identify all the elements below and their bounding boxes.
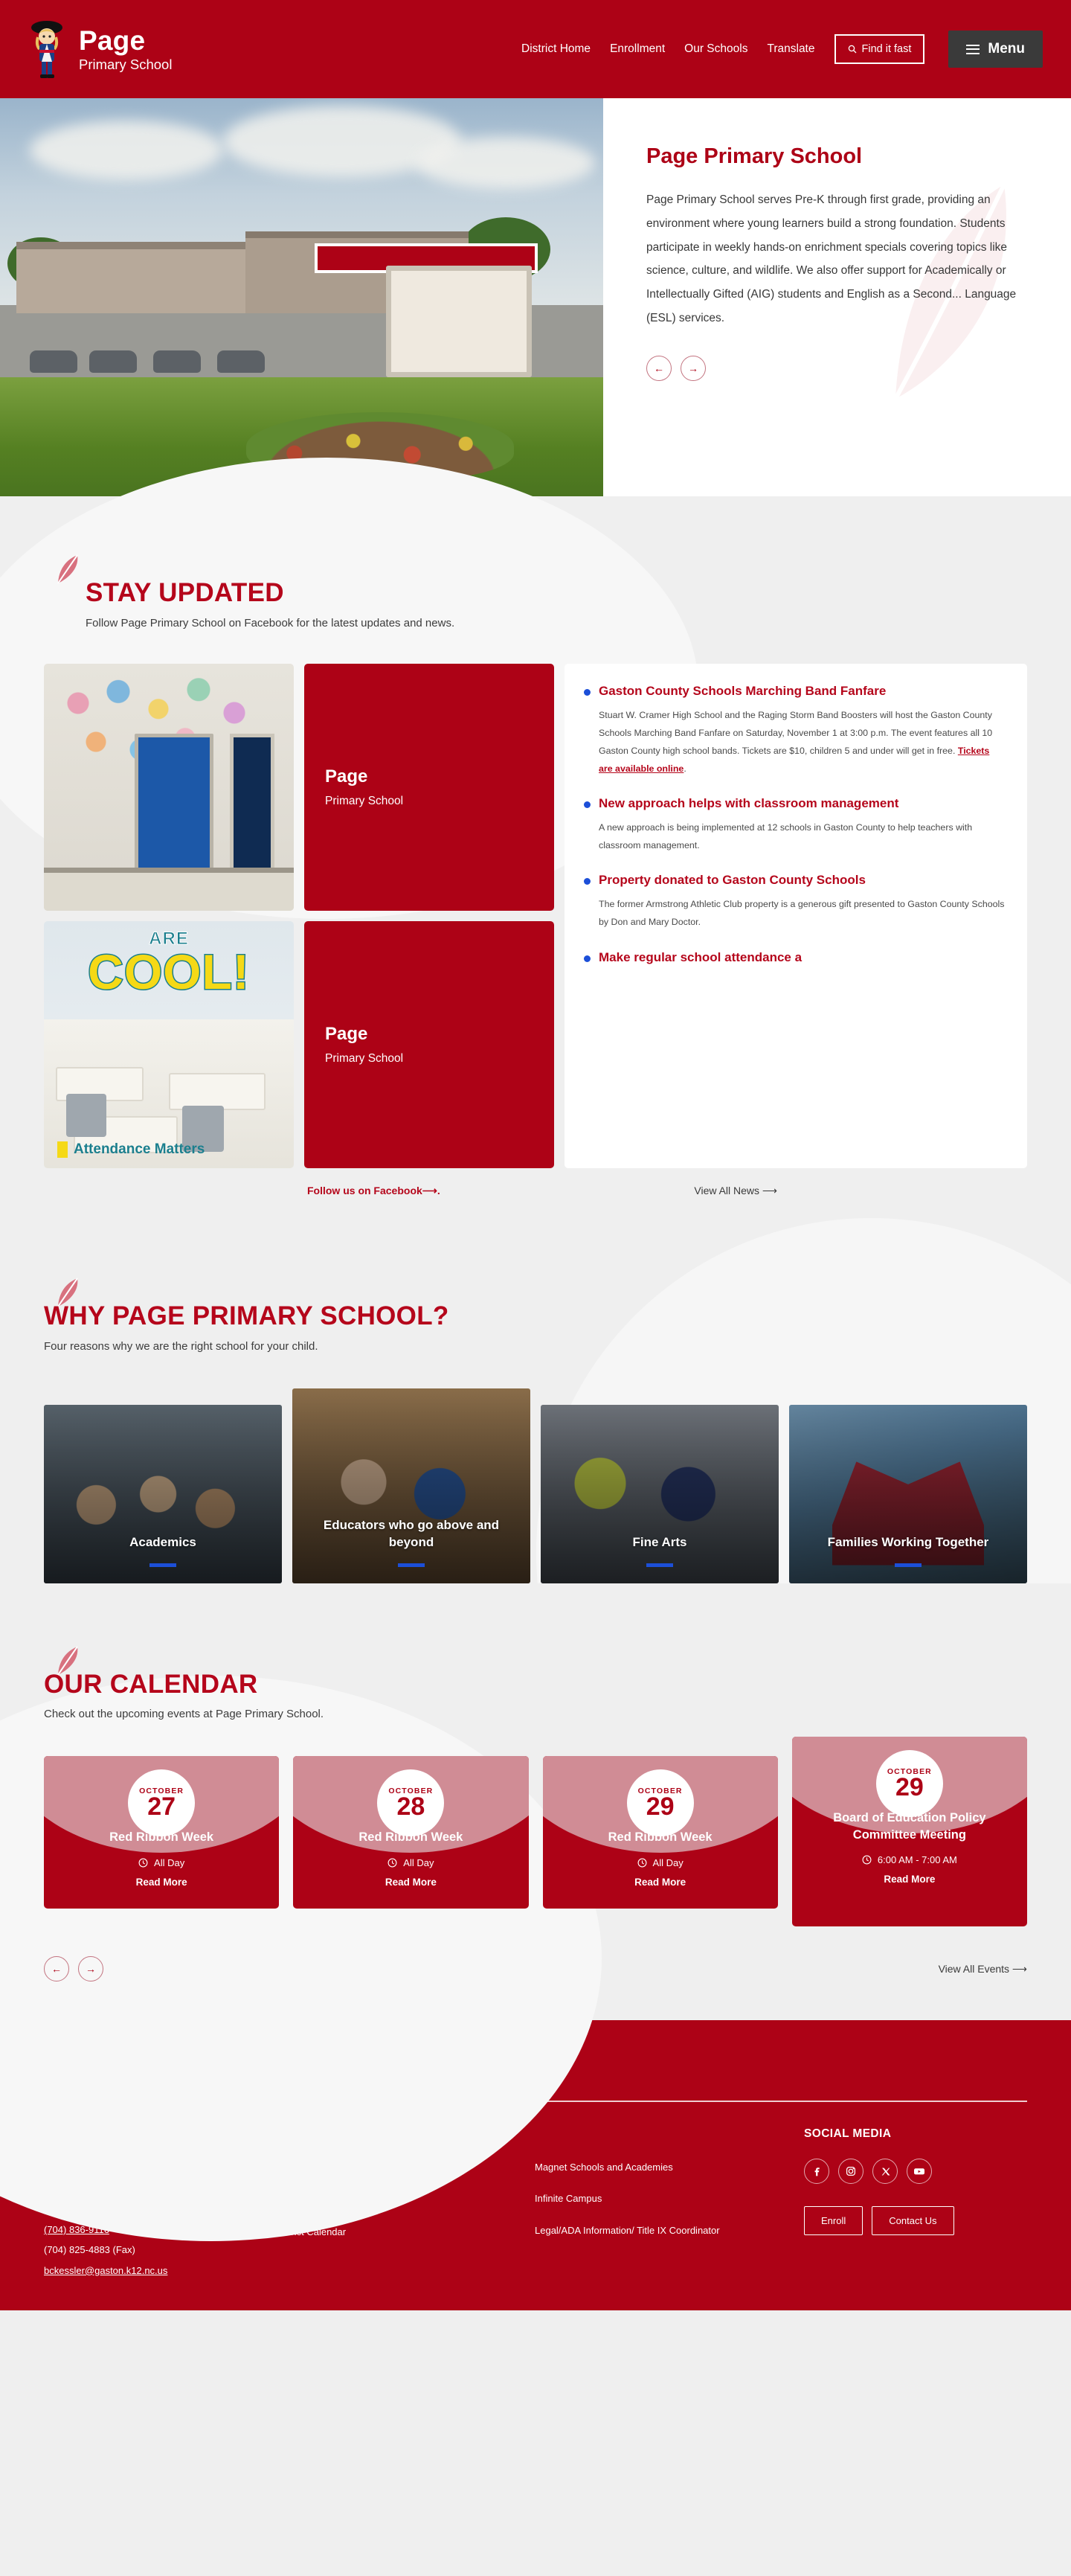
news-item[interactable]: New approach helps with classroom manage…: [584, 795, 1005, 854]
hero-school-photo: [0, 98, 603, 496]
event-read-more[interactable]: Read More: [136, 1877, 187, 1888]
stay-updated-footer-links: Follow us on Facebook⟶. View All News ⟶: [44, 1185, 1027, 1197]
post2-cool-text: COOL!: [44, 943, 294, 1000]
facebook-feed-grid: ARE COOL! Attendance Matters Page Primar…: [44, 664, 1027, 1168]
yellow-square-icon: [57, 1141, 68, 1158]
bullet-icon: [584, 689, 591, 696]
event-read-more[interactable]: Read More: [884, 1874, 935, 1885]
contact-us-button[interactable]: Contact Us: [872, 2206, 953, 2235]
menu-button[interactable]: Menu: [948, 31, 1043, 68]
hero-section: Page Primary School Page Primary School …: [0, 98, 1071, 496]
footer-link-infinite-campus[interactable]: Infinite Campus: [535, 2188, 797, 2208]
events-grid: OCTOBER 27 Red Ribbon Week All Day Read …: [44, 1756, 1027, 1926]
facebook-post-image-1[interactable]: [44, 664, 294, 911]
event-title: Board of Education Policy Committee Meet…: [808, 1810, 1011, 1843]
footer-link-magnet-schools[interactable]: Magnet Schools and Academies: [535, 2157, 797, 2177]
news-title[interactable]: Property donated to Gaston County School…: [599, 872, 1005, 889]
facebook-post-image-2[interactable]: ARE COOL! Attendance Matters: [44, 921, 294, 1168]
follow-facebook-link[interactable]: Follow us on Facebook⟶.: [307, 1185, 440, 1197]
event-date-badge: OCTOBER 28: [377, 1769, 444, 1836]
news-body: A new approach is being implemented at 1…: [599, 818, 1005, 854]
brand-subtitle: Primary School: [79, 58, 172, 72]
menu-label: Menu: [988, 41, 1025, 57]
nav-translate[interactable]: Translate: [767, 42, 814, 56]
top-nav: District Home Enrollment Our Schools Tra…: [521, 31, 1043, 68]
event-day: 27: [147, 1794, 176, 1819]
hero-content: Page Primary School Page Primary School …: [0, 98, 1071, 496]
footer-email-link[interactable]: bckessler@gaston.k12.nc.us: [44, 2261, 267, 2281]
brand-logo[interactable]: Page Primary School: [25, 17, 172, 81]
hero-title: Page Primary School: [646, 144, 1025, 169]
view-all-news-link[interactable]: View All News ⟶: [694, 1185, 777, 1197]
clock-icon: [637, 1858, 647, 1868]
footer-social-heading: SOCIAL MEDIA: [804, 2127, 1027, 2141]
facebook-brand-card-2[interactable]: Page Primary School: [304, 921, 554, 1168]
hero-prev-button[interactable]: ←: [646, 356, 672, 381]
nav-our-schools[interactable]: Our Schools: [684, 42, 747, 56]
news-item[interactable]: Make regular school attendance a: [584, 949, 1005, 967]
event-title: Red Ribbon Week: [559, 1829, 762, 1845]
why-card-label: Fine Arts: [553, 1534, 767, 1551]
nav-district-home[interactable]: District Home: [521, 42, 591, 56]
footer-action-buttons: Enroll Contact Us: [804, 2206, 1027, 2235]
brand-title: Page: [79, 27, 172, 54]
calendar-header: OUR CALENDAR Check out the upcoming even…: [44, 1646, 1027, 1721]
facebook-brand-card-1[interactable]: Page Primary School: [304, 664, 554, 911]
facebook-icon[interactable]: [804, 2159, 829, 2184]
news-list-card: Gaston County Schools Marching Band Fanf…: [565, 664, 1027, 1168]
calendar-carousel-controls: ← →: [44, 1956, 103, 1981]
view-all-events-link[interactable]: View All Events ⟶: [939, 1963, 1027, 1976]
why-card-label: Academics: [56, 1534, 270, 1551]
instagram-icon[interactable]: [838, 2159, 863, 2184]
why-card-educators[interactable]: Educators who go above and beyond: [292, 1388, 530, 1583]
event-date-badge: OCTOBER 27: [128, 1769, 195, 1836]
news-title[interactable]: New approach helps with classroom manage…: [599, 795, 1005, 813]
why-card-underline: [398, 1563, 425, 1567]
bullet-icon: [584, 878, 591, 885]
post2-attendance-text: Attendance Matters: [57, 1141, 288, 1158]
calendar-section: OUR CALENDAR Check out the upcoming even…: [0, 1583, 1071, 2021]
feather-icon: [57, 554, 80, 584]
news-title[interactable]: Make regular school attendance a: [599, 949, 802, 967]
youtube-icon[interactable]: [907, 2159, 932, 2184]
hamburger-icon: [966, 45, 980, 54]
hero-carousel-controls: ← →: [646, 356, 1025, 381]
calendar-subtitle: Check out the upcoming events at Page Pr…: [44, 1708, 1027, 1720]
clock-icon: [387, 1858, 397, 1868]
facebook-images-column: ARE COOL! Attendance Matters: [44, 664, 294, 1168]
why-subtitle: Four reasons why we are the right school…: [44, 1340, 1027, 1353]
event-day: 29: [895, 1775, 924, 1800]
x-icon[interactable]: [872, 2159, 898, 2184]
enroll-button[interactable]: Enroll: [804, 2206, 863, 2235]
event-card[interactable]: OCTOBER 27 Red Ribbon Week All Day Read …: [44, 1756, 279, 1908]
footer-links-column-2: Magnet Schools and Academies Infinite Ca…: [535, 2127, 797, 2281]
event-day: 28: [396, 1794, 425, 1819]
event-time: 6:00 AM - 7:00 AM: [808, 1854, 1011, 1865]
why-section: WHY PAGE PRIMARY SCHOOL? Four reasons wh…: [0, 1212, 1071, 1583]
clock-icon: [138, 1858, 148, 1868]
search-icon: [848, 45, 857, 54]
news-item[interactable]: Gaston County Schools Marching Band Fanf…: [584, 683, 1005, 778]
news-item[interactable]: Property donated to Gaston County School…: [584, 872, 1005, 931]
event-day: 29: [646, 1794, 675, 1819]
hero-text-card: Page Primary School Page Primary School …: [603, 98, 1071, 496]
event-time: All Day: [559, 1857, 762, 1868]
bullet-icon: [584, 801, 591, 808]
bullet-icon: [584, 955, 591, 962]
fb-card-2-title: Page: [325, 1024, 533, 1045]
stay-updated-subtitle: Follow Page Primary School on Facebook f…: [86, 617, 1027, 629]
why-cards-grid: Academics Educators who go above and bey…: [44, 1388, 1027, 1583]
footer-fax: (704) 825-4883 (Fax): [44, 2240, 267, 2260]
why-title: WHY PAGE PRIMARY SCHOOL?: [44, 1303, 1027, 1330]
event-time: All Day: [60, 1857, 263, 1868]
fb-card-1-title: Page: [325, 766, 533, 787]
facebook-brand-cards-column: Page Primary School Page Primary School: [304, 664, 554, 1168]
hero-body: Page Primary School serves Pre-K through…: [646, 188, 1025, 330]
calendar-prev-button[interactable]: ←: [44, 1956, 69, 1981]
news-title[interactable]: Gaston County Schools Marching Band Fanf…: [599, 683, 1005, 700]
clock-icon: [862, 1855, 872, 1865]
footer-link-legal-ada[interactable]: Legal/ADA Information/ Title IX Coordina…: [535, 2220, 797, 2240]
event-read-more[interactable]: Read More: [385, 1877, 437, 1888]
event-card[interactable]: OCTOBER 28 Red Ribbon Week All Day Read …: [293, 1756, 528, 1908]
calendar-next-button[interactable]: →: [78, 1956, 103, 1981]
news-body: Stuart W. Cramer High School and the Rag…: [599, 706, 1005, 778]
stay-updated-section: STAY UPDATED Follow Page Primary School …: [0, 496, 1071, 1212]
event-card[interactable]: OCTOBER 29 Red Ribbon Week All Day Read …: [543, 1756, 778, 1908]
why-card-fine-arts[interactable]: Fine Arts: [541, 1405, 779, 1583]
event-read-more[interactable]: Read More: [634, 1877, 686, 1888]
event-date-badge: OCTOBER 29: [876, 1750, 943, 1817]
patriot-mascot-icon: [25, 17, 68, 81]
why-card-underline: [149, 1563, 176, 1567]
event-card[interactable]: OCTOBER 29 Board of Education Policy Com…: [792, 1737, 1027, 1926]
why-card-label: Families Working Together: [801, 1534, 1015, 1551]
event-title: Red Ribbon Week: [60, 1829, 263, 1845]
why-card-label: Educators who go above and beyond: [304, 1517, 518, 1551]
why-header: WHY PAGE PRIMARY SCHOOL? Four reasons wh…: [44, 1278, 1027, 1353]
stay-updated-title: STAY UPDATED: [86, 580, 1027, 607]
why-card-underline: [895, 1563, 922, 1567]
hero-next-button[interactable]: →: [681, 356, 706, 381]
calendar-title: OUR CALENDAR: [44, 1671, 1027, 1699]
event-date-badge: OCTOBER 29: [627, 1769, 694, 1836]
event-time: All Day: [309, 1857, 512, 1868]
event-title: Red Ribbon Week: [309, 1829, 512, 1845]
fb-card-1-sub: Primary School: [325, 795, 533, 808]
calendar-footer: ← → View All Events ⟶: [44, 1956, 1027, 1981]
site-header: Page Primary School District Home Enroll…: [0, 0, 1071, 98]
footer-social-icons: [804, 2159, 1027, 2184]
find-it-fast-button[interactable]: Find it fast: [834, 34, 925, 64]
footer-social-column: SOCIAL MEDIA: [804, 2127, 1027, 2281]
fb-card-2-sub: Primary School: [325, 1052, 533, 1066]
find-it-fast-label: Find it fast: [862, 43, 912, 55]
nav-enrollment[interactable]: Enrollment: [610, 42, 665, 56]
news-body: The former Armstrong Athletic Club prope…: [599, 895, 1005, 931]
why-card-underline: [646, 1563, 673, 1567]
page-root: Page Primary School District Home Enroll…: [0, 0, 1071, 2310]
stay-updated-header: STAY UPDATED Follow Page Primary School …: [44, 554, 1027, 629]
why-card-families[interactable]: Families Working Together: [789, 1405, 1027, 1583]
why-card-academics[interactable]: Academics: [44, 1405, 282, 1583]
